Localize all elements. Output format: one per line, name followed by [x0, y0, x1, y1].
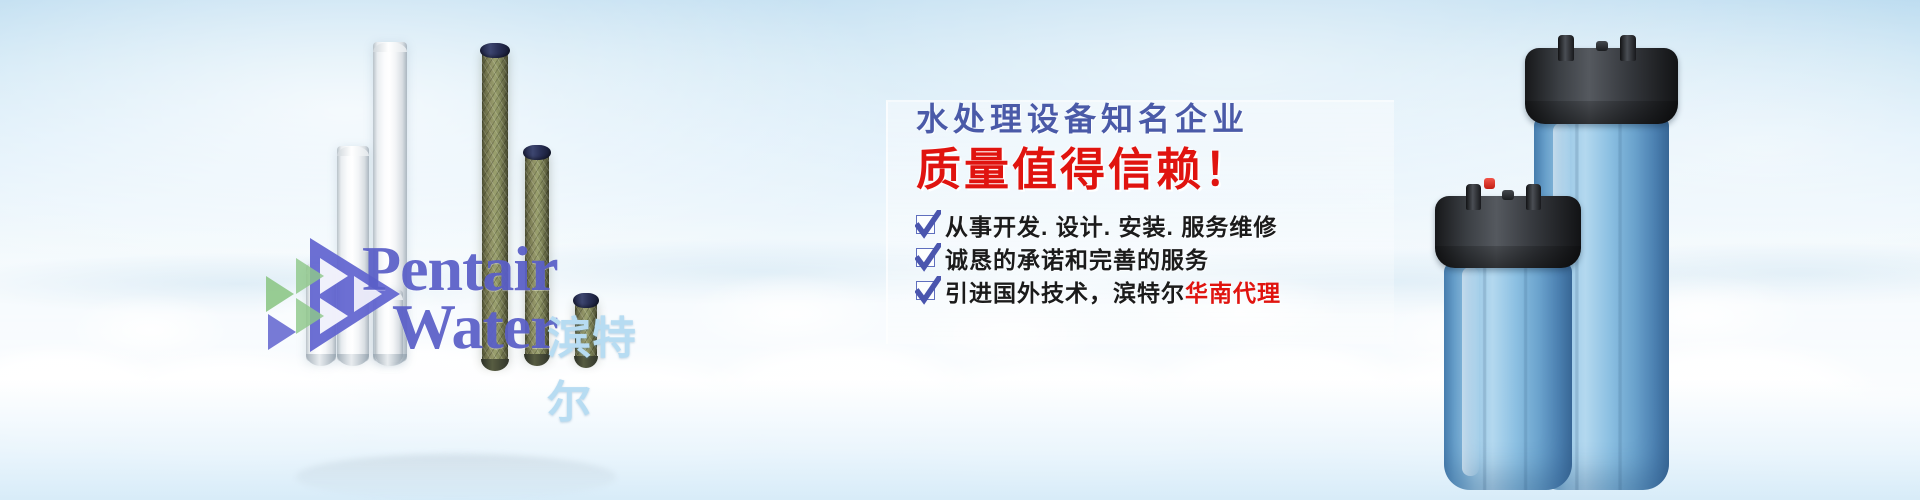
message-copy: 水处理设备知名企业 质量值得信赖！ 从事开发. 设计. 安装. 服务维修 诚恳的…: [916, 98, 1436, 307]
housing-outlet-port-right: [1620, 35, 1636, 61]
list-item: 诚恳的承诺和完善的服务: [916, 241, 1436, 274]
housing-cap-lip: [1435, 246, 1581, 268]
bullet-label: 诚恳的承诺和完善的服务: [945, 241, 1209, 275]
pressure-relief-button[interactable]: [1484, 178, 1495, 189]
big-blue-housing-small: [1444, 182, 1572, 490]
housing-cap-lip: [1525, 101, 1679, 124]
list-item: 引进国外技术，滨特尔华南代理: [916, 274, 1436, 307]
list-item: 从事开发. 设计. 安装. 服务维修: [916, 208, 1436, 241]
housing-cap-small: [1435, 196, 1581, 268]
carbon-filter-cap-top: [480, 43, 510, 58]
housing-inlet-port-left: [1466, 184, 1481, 210]
housing-cap-large: [1525, 48, 1679, 124]
pentair-chinese-name: 滨特尔: [547, 302, 662, 430]
checkbox-checked-icon: [916, 281, 935, 300]
pentair-word-line2: Water: [392, 298, 558, 356]
housing-vent-knob: [1596, 41, 1608, 51]
bullet-label: 从事开发. 设计. 安装. 服务维修: [945, 208, 1277, 242]
housing-sump-small: [1444, 262, 1572, 490]
pentair-logo: Pentair Water 滨特尔: [262, 236, 662, 366]
checkbox-checked-icon: [916, 215, 935, 234]
housing-outlet-port-right: [1526, 184, 1541, 210]
carbon-filter-cap-top: [523, 145, 551, 160]
bullet-label-main: 引进国外技术，滨特尔: [945, 280, 1185, 306]
bullet-label-highlight: 华南代理: [1185, 280, 1281, 306]
housing-inlet-port-left: [1558, 35, 1574, 61]
housing-vent-knob: [1502, 190, 1514, 200]
filter-reflection: [296, 454, 616, 500]
headline-primary: 水处理设备知名企业: [916, 98, 1436, 140]
pentair-wordmark: Pentair Water: [362, 240, 558, 356]
bullet-label: 引进国外技术，滨特尔华南代理: [945, 274, 1281, 308]
housing-ribs: [1444, 262, 1572, 490]
checkbox-checked-icon: [916, 248, 935, 267]
feature-bullet-list: 从事开发. 设计. 安装. 服务维修 诚恳的承诺和完善的服务 引进国外技术，滨特…: [916, 208, 1436, 307]
headline-secondary: 质量值得信赖！: [916, 142, 1436, 198]
pentair-water-banner: Pentair Water 滨特尔 水处理设备知名企业 质量值得信赖！ 从事开发…: [0, 0, 1920, 500]
